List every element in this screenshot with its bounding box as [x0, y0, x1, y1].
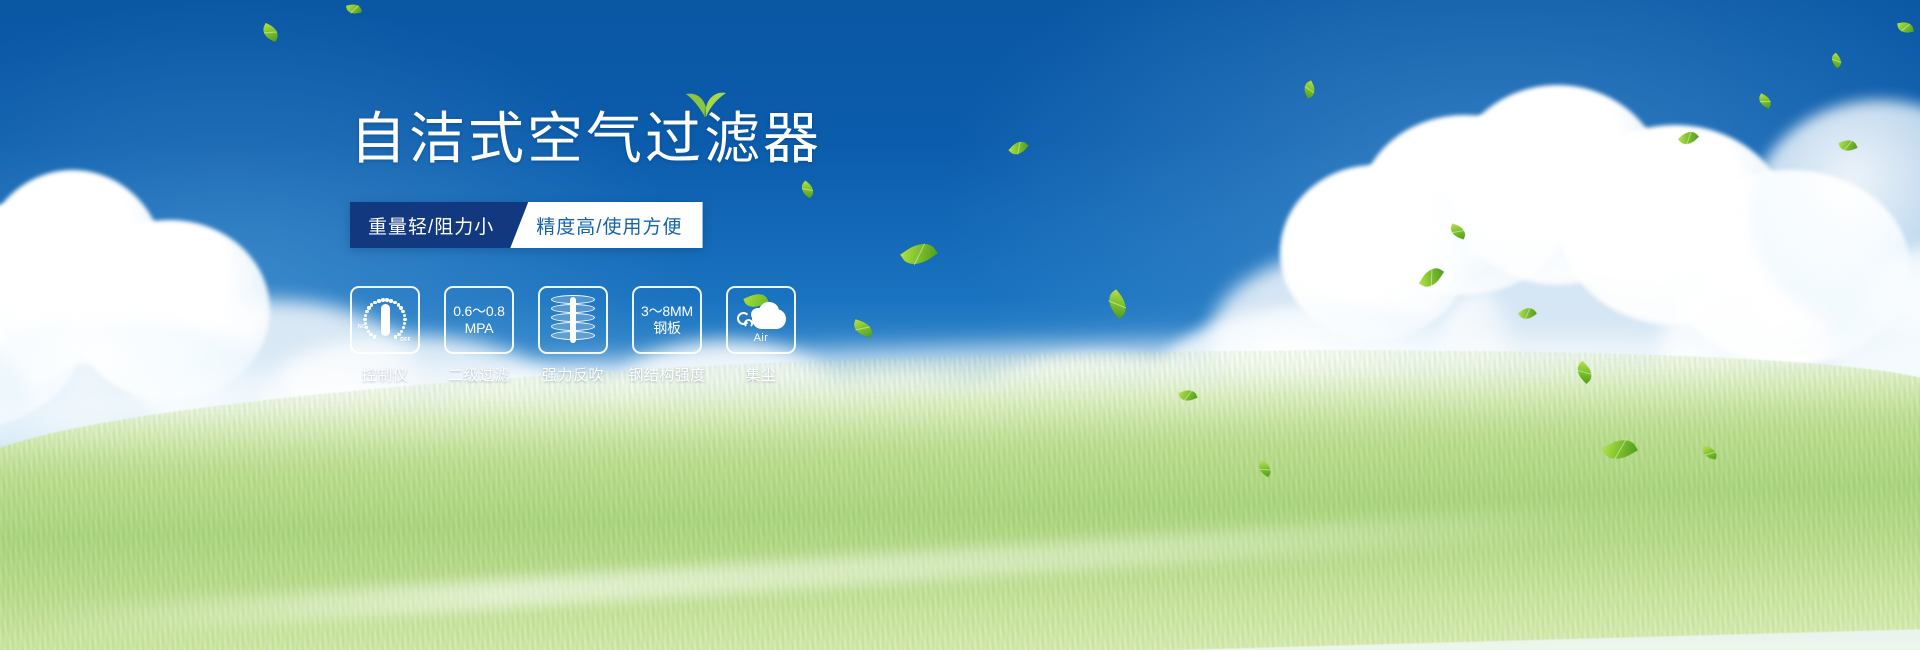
- air-cloud-icon: Air: [735, 297, 787, 343]
- feature-list: NO OFF 控制仪 0.6～0.8 MPA 二级过滤: [350, 286, 1070, 385]
- feature-label: 控制仪: [362, 364, 409, 385]
- banner-content: 自洁式空气过滤器 重量轻/阻力小 精度高/使用方便 NO: [350, 104, 1070, 385]
- badge-left-text: 重量轻/阻力小: [350, 202, 528, 248]
- feature-box: Air: [726, 286, 796, 354]
- badge-right-text: 精度高/使用方便: [510, 202, 702, 248]
- feature-label: 集尘: [745, 364, 776, 385]
- feature-item-backblow[interactable]: 强力反吹: [538, 286, 608, 385]
- feature-label: 强力反吹: [542, 364, 604, 385]
- pressure-value: 0.6～0.8: [453, 303, 505, 320]
- product-banner: 自洁式空气过滤器 重量轻/阻力小 精度高/使用方便 NO: [0, 0, 1920, 650]
- feature-label: 二级过滤: [448, 364, 510, 385]
- title-row: 自洁式空气过滤器: [350, 104, 1070, 178]
- feature-item-steel[interactable]: 3～8MM 钢板 钢结构强度: [632, 286, 702, 385]
- filter-stack-icon: [551, 295, 595, 345]
- feature-box: NO OFF: [350, 286, 420, 354]
- air-label: Air: [735, 332, 787, 344]
- title-leaf-decoration: [684, 88, 728, 118]
- gauge-icon: NO OFF: [357, 294, 413, 346]
- feature-item-dust[interactable]: Air 集尘: [726, 286, 796, 385]
- steel-material: 钢板: [653, 320, 681, 337]
- feature-badge: 重量轻/阻力小 精度高/使用方便: [350, 202, 703, 248]
- feature-box: 0.6～0.8 MPA: [444, 286, 514, 354]
- feature-label: 钢结构强度: [628, 364, 706, 385]
- feature-box: 3～8MM 钢板: [632, 286, 702, 354]
- gauge-no-label: NO: [358, 324, 366, 330]
- feature-box: [538, 286, 608, 354]
- feature-item-pressure[interactable]: 0.6～0.8 MPA 二级过滤: [444, 286, 514, 385]
- gauge-off-label: OFF: [400, 337, 411, 343]
- pressure-unit: MPA: [465, 320, 494, 337]
- feature-item-controller[interactable]: NO OFF 控制仪: [350, 286, 420, 385]
- steel-thickness: 3～8MM: [641, 303, 693, 320]
